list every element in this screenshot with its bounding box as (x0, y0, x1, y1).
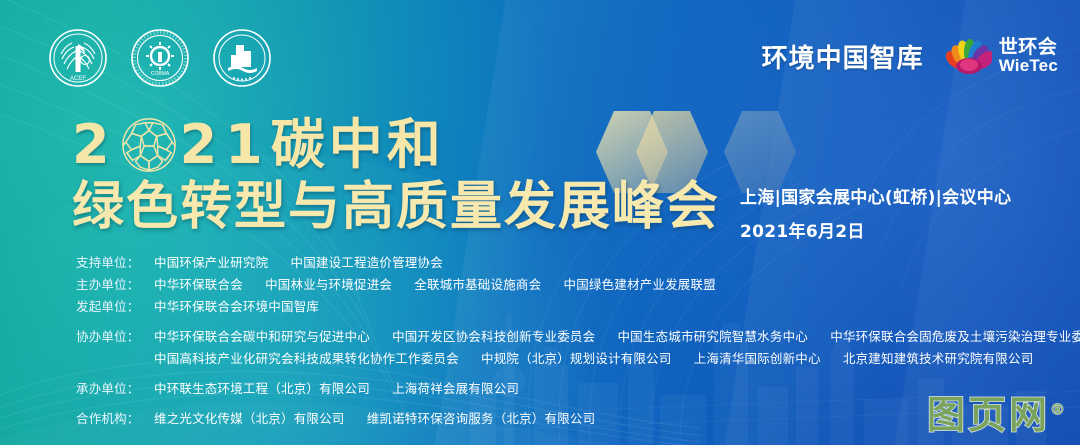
conference-banner: ACEF COBMA (0, 0, 1080, 445)
org-row: 承办单位： 中环联生态环境工程（北京）有限公司 上海荷祥会展有限公司 (76, 378, 1066, 397)
institute-emblem-icon (212, 28, 272, 88)
org-item: 中华环保联合会环境中国智库 (154, 299, 319, 314)
organizations-list: 支持单位： 中国环保产业研究院 中国建设工程造价管理协会 主办单位： 中华环保联… (76, 252, 1066, 427)
org-item: 上海荷祥会展有限公司 (392, 381, 519, 396)
watermark: 图页网® (927, 384, 1068, 439)
org-item: 中国绿色建材产业发展联盟 (564, 277, 716, 292)
org-values: 中华环保联合会碳中和研究与促进中心 中国开发区协会科技创新专业委员会 中国生态城… (154, 326, 1080, 345)
org-values: 中环联生态环境工程（北京）有限公司 上海荷祥会展有限公司 (154, 378, 519, 397)
org-item: 中华环保联合会 (154, 277, 243, 292)
svg-text:ACEF: ACEF (70, 76, 86, 82)
org-row: 主办单位： 中华环保联合会 中国林业与环境促进会 全联城市基础设施商会 中国绿色… (76, 274, 1066, 293)
org-item: 中华环保联合会固危废及土壤污染治理专业委员会 (830, 329, 1080, 344)
acef-emblem-icon: ACEF (48, 28, 108, 88)
venue-date: 2021年6月2日 (740, 217, 1011, 242)
org-label: 合作机构： (76, 408, 154, 427)
brand-block: 环境中国智库 世环会 WieTec (762, 36, 1058, 76)
org-item: 中国高科技产业化研究会科技成果转化协作工作委员会 (154, 351, 459, 366)
org-item: 中国建设工程造价管理协会 (291, 255, 443, 270)
org-values: 中国高科技产业化研究会科技成果转化协作工作委员会 中规院（北京）规划设计有限公司… (76, 348, 1033, 367)
org-label: 承办单位： (76, 378, 154, 397)
org-label: 支持单位： (76, 252, 154, 271)
org-values: 维之光文化传媒（北京）有限公司 维凯诺特环保咨询服务（北京）有限公司 (154, 408, 595, 427)
org-label: 协办单位： (76, 326, 154, 345)
org-item: 中规院（北京）规划设计有限公司 (481, 351, 672, 366)
org-item: 中华环保联合会碳中和研究与促进中心 (154, 329, 370, 344)
org-values: 中华环保联合会环境中国智库 (154, 296, 319, 315)
registered-mark: ® (1050, 400, 1068, 418)
org-item: 北京建知建筑技术研究院有限公司 (843, 351, 1034, 366)
wietec-logo: 世环会 WieTec (946, 36, 1058, 76)
wietec-cn-label: 世环会 (999, 38, 1058, 57)
org-item: 上海清华国际创新中心 (694, 351, 821, 366)
title-year-prefix: 2 (72, 118, 118, 172)
org-item: 中国环保产业研究院 (154, 255, 268, 270)
partner-emblems: ACEF COBMA (48, 28, 272, 88)
org-label: 发起单位： (76, 296, 154, 315)
org-row: 支持单位： 中国环保产业研究院 中国建设工程造价管理协会 (76, 252, 1066, 271)
org-row: 协办单位： 中华环保联合会碳中和研究与促进中心 中国开发区协会科技创新专业委员会… (76, 326, 1066, 345)
org-item: 中国林业与环境促进会 (265, 277, 392, 292)
fullerene-molecule-icon (120, 116, 178, 174)
think-tank-label: 环境中国智库 (762, 38, 924, 75)
title-line1-suffix: 碳中和 (271, 118, 445, 172)
org-values: 中华环保联合会 中国林业与环境促进会 全联城市基础设施商会 中国绿色建材产业发展… (154, 274, 716, 293)
cobma-emblem-icon: COBMA (130, 28, 190, 88)
venue-place: 上海|国家会展中心(虹桥)|会议中心 (740, 183, 1011, 208)
org-item: 中国开发区协会科技创新专业委员会 (392, 329, 595, 344)
lotus-logo-icon (946, 36, 992, 76)
org-row: 合作机构： 维之光文化传媒（北京）有限公司 维凯诺特环保咨询服务（北京）有限公司 (76, 408, 1066, 427)
org-label: 主办单位： (76, 274, 154, 293)
watermark-text: 图页网 (927, 393, 1050, 437)
org-item: 维之光文化传媒（北京）有限公司 (154, 411, 345, 426)
title-year-suffix: 21 (180, 118, 271, 172)
org-item: 中环联生态环境工程（北京）有限公司 (154, 381, 370, 396)
title-line-2: 绿色转型与高质量发展峰会 (72, 181, 720, 233)
venue-block: 上海|国家会展中心(虹桥)|会议中心 2021年6月2日 (740, 183, 1011, 242)
org-values: 中国环保产业研究院 中国建设工程造价管理协会 (154, 252, 443, 271)
svg-text:COBMA: COBMA (151, 71, 170, 77)
org-item: 维凯诺特环保咨询服务（北京）有限公司 (367, 411, 596, 426)
wietec-en-label: WieTec (999, 57, 1058, 74)
org-row: 发起单位： 中华环保联合会环境中国智库 (76, 296, 1066, 315)
org-row-continuation: 中国高科技产业化研究会科技成果转化协作工作委员会 中规院（北京）规划设计有限公司… (76, 348, 1066, 367)
title-line-1: 2 21 碳中和 (72, 116, 445, 174)
org-item: 全联城市基础设施商会 (414, 277, 541, 292)
org-item: 中国生态城市研究院智慧水务中心 (617, 329, 808, 344)
hexagon-blue (724, 111, 796, 193)
